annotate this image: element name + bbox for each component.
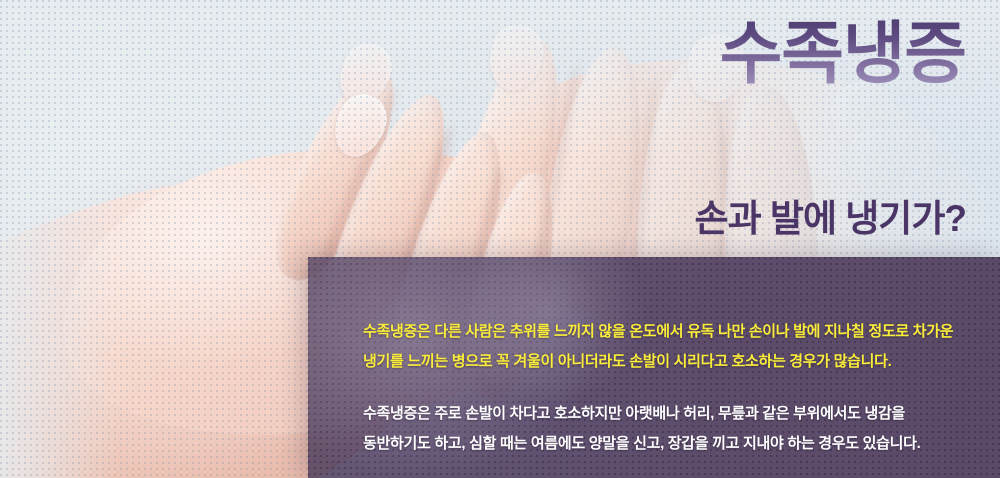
paragraph-line: 동반하기도 하고, 심할 때는 여름에도 양말을 신고, 장갑을 끼고 지내야 … <box>363 429 1000 459</box>
page-title: 수족냉증 <box>720 18 966 90</box>
paragraph-symptoms: 수족냉증은 주로 손발이 차다고 호소하지만 아랫배나 허리, 무릎과 같은 부… <box>363 399 1000 459</box>
page-subtitle: 손과 발에 냉기가? <box>695 188 966 242</box>
suzok-naengjeung-banner: 수족냉증 손과 발에 냉기가? 수족냉증은 다른 사람은 추위를 느끼지 않을 … <box>0 0 1000 478</box>
paragraph-definition: 수족냉증은 다른 사람은 추위를 느끼지 않을 온도에서 유독 나만 손이나 발… <box>363 317 1000 377</box>
headline-group: 수족냉증 <box>720 18 966 90</box>
panel-text-body: 수족냉증은 다른 사람은 추위를 느끼지 않을 온도에서 유독 나만 손이나 발… <box>308 257 1000 459</box>
paragraph-line: 냉기를 느끼는 병으로 꼭 겨울이 아니더라도 손발이 시리다고 호소하는 경우… <box>363 347 1000 377</box>
paragraph-line: 수족냉증은 주로 손발이 차다고 호소하지만 아랫배나 허리, 무릎과 같은 부… <box>363 399 1000 429</box>
description-panel: 수족냉증은 다른 사람은 추위를 느끼지 않을 온도에서 유독 나만 손이나 발… <box>308 257 1000 478</box>
paragraph-line: 수족냉증은 다른 사람은 추위를 느끼지 않을 온도에서 유독 나만 손이나 발… <box>363 317 1000 347</box>
photo-left-fade <box>0 0 120 478</box>
